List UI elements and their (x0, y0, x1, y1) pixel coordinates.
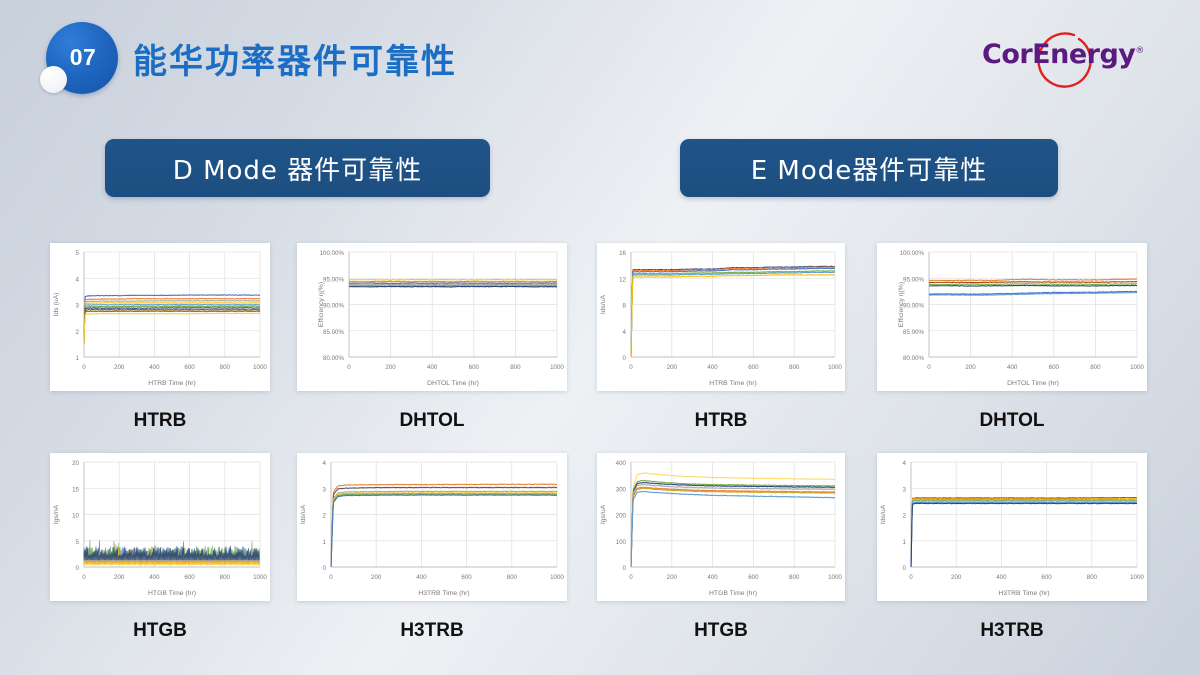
svg-text:95.00%: 95.00% (323, 276, 344, 283)
series-line (929, 279, 1137, 281)
series-line (331, 495, 557, 567)
series-line (349, 283, 557, 284)
svg-text:200: 200 (667, 364, 678, 371)
chart-card-e-mode-h3trb[interactable]: 0123402004006008001000H3TRB Time (hr)Ids… (877, 453, 1147, 601)
svg-text:15: 15 (72, 486, 79, 493)
series-line (631, 268, 835, 357)
logo-trademark: ® (1135, 46, 1144, 56)
svg-text:5: 5 (76, 539, 80, 546)
series-line (331, 491, 557, 567)
series-line (631, 488, 835, 567)
chart-card-e-mode-htrb[interactable]: 048121602004006008001000HTRB Time (hr)Id… (597, 243, 845, 391)
chart-card-e-mode-dhtol[interactable]: 80.00%85.00%90.00%95.00%100.00%020040060… (877, 243, 1147, 391)
chart-card-d-mode-htgb[interactable]: 0510152002004006008001000HTGB Time (hr)I… (50, 453, 270, 601)
svg-text:600: 600 (1049, 364, 1060, 371)
series-line (331, 494, 557, 567)
svg-text:400: 400 (416, 574, 427, 581)
series-line (929, 281, 1137, 282)
svg-text:Efficiency η(%): Efficiency η(%) (318, 282, 325, 327)
svg-text:1000: 1000 (253, 364, 267, 371)
svg-text:600: 600 (1041, 574, 1052, 581)
svg-text:90.00%: 90.00% (323, 303, 344, 310)
series-line (631, 491, 835, 567)
svg-text:300: 300 (616, 486, 627, 493)
svg-text:5: 5 (76, 250, 80, 257)
series-line (84, 313, 260, 344)
svg-text:12: 12 (619, 276, 626, 283)
chart-plot: 0510152002004006008001000HTGB Time (hr)I… (50, 453, 270, 601)
logo-wordmark: CorEnergy (982, 39, 1135, 70)
chart-caption: HTRB (50, 410, 270, 432)
chart-plot: 1234502004006008001000HTRB Time (hr)Ids … (50, 243, 270, 391)
svg-text:1: 1 (903, 539, 907, 546)
chart-plot: 80.00%85.00%90.00%95.00%100.00%020040060… (297, 243, 567, 391)
svg-text:95.00%: 95.00% (903, 276, 924, 283)
svg-text:200: 200 (616, 513, 627, 520)
svg-text:200: 200 (965, 364, 976, 371)
slide-header: 07 能华功率器件可靠性 CorEnergy® (0, 0, 1200, 110)
chart-plot: 0123402004006008001000H3TRB Time (hr)Ids… (877, 453, 1147, 601)
svg-text:3: 3 (323, 486, 327, 493)
series-line (331, 487, 557, 567)
series-line (911, 502, 1137, 567)
series-line (349, 286, 557, 287)
svg-text:1000: 1000 (828, 364, 842, 371)
svg-text:Efficiency η(%): Efficiency η(%) (898, 282, 905, 327)
svg-text:1000: 1000 (253, 574, 267, 581)
svg-text:4: 4 (323, 460, 327, 467)
svg-text:HTGB Time (hr): HTGB Time (hr) (709, 590, 757, 597)
badge-accent-dot (40, 66, 67, 93)
chart-caption: H3TRB (877, 620, 1147, 642)
series-line (349, 284, 557, 285)
svg-text:20: 20 (72, 460, 79, 467)
svg-text:100: 100 (616, 539, 627, 546)
chart-card-d-mode-htrb[interactable]: 1234502004006008001000HTRB Time (hr)Ids … (50, 243, 270, 391)
svg-text:Igs/uA: Igs/uA (600, 504, 607, 524)
svg-text:DHTOL Time (hr): DHTOL Time (hr) (427, 380, 479, 387)
svg-text:2: 2 (323, 513, 327, 520)
svg-text:H3TRB Time (hr): H3TRB Time (hr) (418, 590, 469, 597)
banner-e-mode-label: E Mode器件可靠性 (751, 150, 988, 187)
svg-text:600: 600 (748, 364, 759, 371)
svg-text:200: 200 (667, 574, 678, 581)
series-line (631, 271, 835, 357)
svg-text:4: 4 (623, 329, 627, 336)
svg-text:100.00%: 100.00% (900, 250, 925, 257)
svg-text:800: 800 (789, 574, 800, 581)
svg-text:400: 400 (996, 574, 1007, 581)
svg-text:800: 800 (510, 364, 521, 371)
svg-text:DHTOL Time (hr): DHTOL Time (hr) (1007, 380, 1059, 387)
series-line (911, 498, 1137, 567)
svg-text:1000: 1000 (828, 574, 842, 581)
svg-text:0: 0 (76, 565, 80, 572)
svg-text:0: 0 (629, 574, 633, 581)
logo-text: CorEnergy® (982, 39, 1172, 70)
chart-card-e-mode-htgb[interactable]: 010020030040002004006008001000HTGB Time … (597, 453, 845, 601)
svg-text:0: 0 (82, 364, 86, 371)
svg-text:0: 0 (623, 565, 627, 572)
series-line (929, 284, 1137, 285)
svg-text:800: 800 (789, 364, 800, 371)
svg-text:4: 4 (76, 276, 80, 283)
svg-text:600: 600 (184, 574, 195, 581)
svg-text:0: 0 (629, 364, 633, 371)
series-line (84, 295, 260, 342)
svg-text:0: 0 (623, 355, 627, 362)
svg-text:0: 0 (927, 364, 931, 371)
chart-plot: 0123402004006008001000H3TRB Time (hr)Ids… (297, 453, 567, 601)
svg-text:2: 2 (76, 329, 80, 336)
banner-e-mode[interactable]: E Mode器件可靠性 (680, 139, 1058, 197)
series-line (631, 275, 835, 357)
series-line (331, 484, 557, 567)
series-line (84, 311, 260, 344)
series-line (349, 279, 557, 280)
svg-text:8: 8 (623, 303, 627, 310)
svg-text:HTRB Time (hr): HTRB Time (hr) (709, 380, 757, 387)
series-line (631, 266, 835, 357)
series-line (349, 281, 557, 282)
svg-text:1000: 1000 (1130, 364, 1144, 371)
svg-text:Ids/uA: Ids/uA (600, 294, 607, 314)
svg-text:800: 800 (220, 574, 231, 581)
svg-text:1000: 1000 (1130, 574, 1144, 581)
svg-text:400: 400 (149, 574, 160, 581)
svg-text:80.00%: 80.00% (903, 355, 924, 362)
svg-text:0: 0 (909, 574, 913, 581)
chart-card-d-mode-dhtol[interactable]: 80.00%85.00%90.00%95.00%100.00%020040060… (297, 243, 567, 391)
chart-caption: DHTOL (297, 410, 567, 432)
series-line (84, 309, 260, 343)
series-line (631, 487, 835, 567)
svg-text:3: 3 (903, 486, 907, 493)
svg-text:10: 10 (72, 513, 79, 520)
corenergy-logo: CorEnergy® (982, 26, 1172, 88)
chart-caption: HTGB (50, 620, 270, 642)
svg-text:400: 400 (427, 364, 438, 371)
svg-text:800: 800 (1087, 574, 1098, 581)
svg-text:400: 400 (707, 574, 718, 581)
svg-text:H3TRB Time (hr): H3TRB Time (hr) (998, 590, 1049, 597)
svg-text:16: 16 (619, 250, 626, 257)
svg-text:0: 0 (82, 574, 86, 581)
series-line (84, 303, 260, 344)
svg-text:0: 0 (323, 565, 327, 572)
banner-d-mode-label: D Mode 器件可靠性 (173, 150, 422, 187)
chart-plot: 010020030040002004006008001000HTGB Time … (597, 453, 845, 601)
svg-text:800: 800 (220, 364, 231, 371)
svg-text:400: 400 (149, 364, 160, 371)
svg-text:Ids/uA: Ids/uA (300, 504, 307, 524)
svg-text:200: 200 (371, 574, 382, 581)
chart-caption: H3TRB (297, 620, 567, 642)
chart-card-d-mode-h3trb[interactable]: 0123402004006008001000H3TRB Time (hr)Ids… (297, 453, 567, 601)
svg-text:600: 600 (748, 574, 759, 581)
series-line (911, 500, 1137, 567)
svg-text:800: 800 (1090, 364, 1101, 371)
svg-text:400: 400 (616, 460, 627, 467)
chart-plot: 048121602004006008001000HTRB Time (hr)Id… (597, 243, 845, 391)
svg-text:1000: 1000 (550, 364, 564, 371)
svg-text:2: 2 (903, 513, 907, 520)
page-title: 能华功率器件可靠性 (133, 34, 457, 83)
series-line (631, 267, 835, 357)
series-line (631, 272, 835, 357)
svg-text:HTRB Time (hr): HTRB Time (hr) (148, 380, 196, 387)
svg-text:100.00%: 100.00% (320, 250, 345, 257)
svg-text:200: 200 (114, 364, 125, 371)
series-line (911, 501, 1137, 567)
series-line (911, 503, 1137, 567)
series-line (331, 493, 557, 567)
svg-text:1000: 1000 (550, 574, 564, 581)
svg-text:Igs/nA: Igs/nA (53, 504, 60, 524)
svg-text:85.00%: 85.00% (323, 329, 344, 336)
chart-plot: 80.00%85.00%90.00%95.00%100.00%020040060… (877, 243, 1147, 391)
svg-text:0: 0 (903, 565, 907, 572)
svg-text:200: 200 (385, 364, 396, 371)
series-line (911, 497, 1137, 567)
svg-text:600: 600 (461, 574, 472, 581)
svg-text:600: 600 (184, 364, 195, 371)
svg-text:1: 1 (76, 355, 80, 362)
svg-text:1: 1 (323, 539, 327, 546)
svg-text:400: 400 (707, 364, 718, 371)
svg-text:200: 200 (951, 574, 962, 581)
chart-caption: HTGB (597, 620, 845, 642)
chart-caption: HTRB (597, 410, 845, 432)
svg-text:4: 4 (903, 460, 907, 467)
svg-text:200: 200 (114, 574, 125, 581)
svg-text:0: 0 (329, 574, 333, 581)
svg-text:80.00%: 80.00% (323, 355, 344, 362)
badge-number: 07 (68, 44, 97, 73)
svg-text:3: 3 (76, 303, 80, 310)
svg-text:Ids/uA: Ids/uA (880, 504, 887, 524)
svg-text:0: 0 (347, 364, 351, 371)
series-line (929, 285, 1137, 286)
svg-text:800: 800 (507, 574, 518, 581)
svg-text:HTGB Time (hr): HTGB Time (hr) (148, 590, 196, 597)
banner-d-mode[interactable]: D Mode 器件可靠性 (105, 139, 490, 197)
svg-text:90.00%: 90.00% (903, 303, 924, 310)
svg-text:600: 600 (469, 364, 480, 371)
svg-text:85.00%: 85.00% (903, 329, 924, 336)
svg-text:400: 400 (1007, 364, 1018, 371)
section-badge: 07 (36, 22, 144, 100)
svg-text:Ids (uA): Ids (uA) (53, 293, 60, 317)
chart-caption: DHTOL (877, 410, 1147, 432)
